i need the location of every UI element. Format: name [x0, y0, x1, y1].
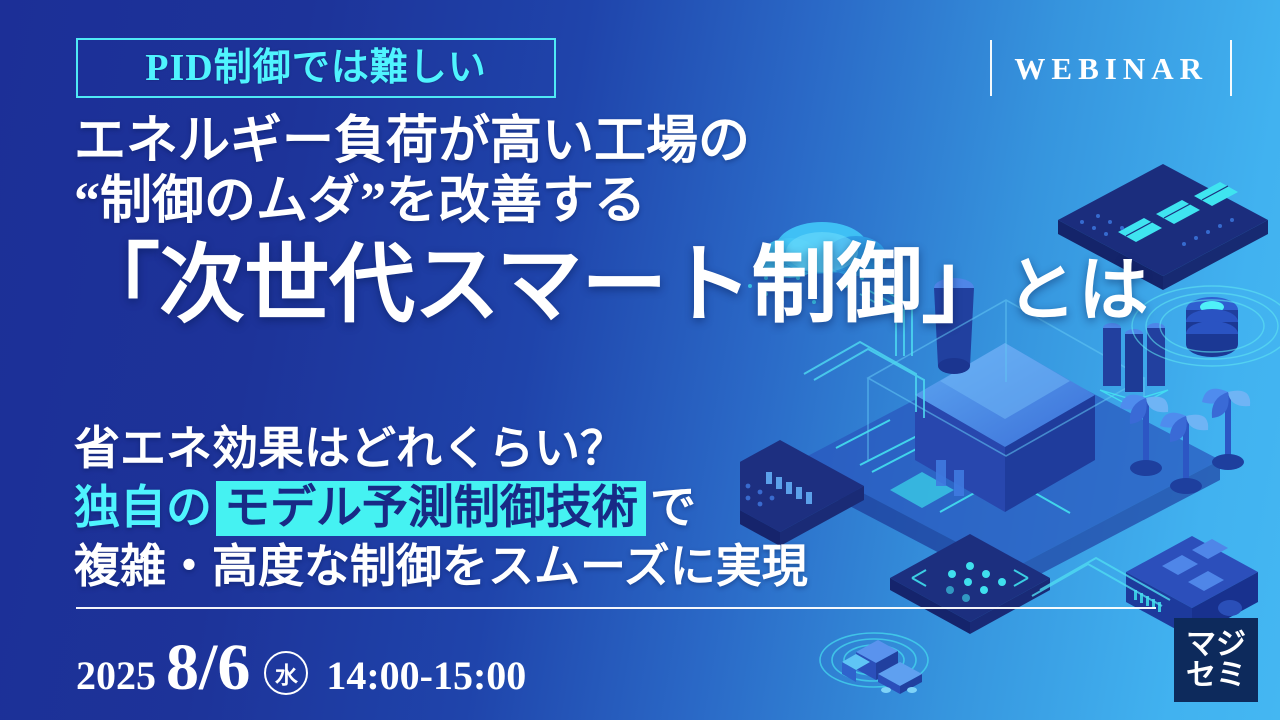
subcopy-suffix: で	[650, 482, 696, 533]
majisemi-logo[interactable]: マジ セミ	[1174, 618, 1258, 702]
schedule-time: 14:00-15:00	[326, 652, 526, 699]
webinar-rule-right	[1230, 40, 1232, 96]
schedule-weekday-badge: 水	[264, 651, 308, 695]
topic-badge: PID制御では難しい	[76, 38, 556, 98]
headline-main-text: 「次世代スマート制御」	[74, 237, 1006, 333]
logo-line-2: セミ	[1186, 660, 1246, 692]
subcopy-line-1: 省エネ効果はどれくらい？	[74, 420, 974, 479]
subcopy-prefix: 独自の	[74, 482, 212, 533]
schedule-day: 8/6	[166, 630, 250, 706]
webinar-label-text: WEBINAR	[1014, 53, 1208, 84]
subcopy-block: 省エネ効果はどれくらい？ 独自のモデル予測制御技術で 複雑・高度な制御をスムーズ…	[74, 420, 974, 597]
headline-line-1: エネルギー負荷が高い工場の	[74, 112, 1164, 172]
horizontal-divider	[76, 607, 1156, 609]
headline-line-2: “制御のムダ”を改善する	[74, 172, 1164, 232]
webinar-banner: PID制御では難しい WEBINAR エネルギー負荷が高い工場の “制御のムダ”…	[0, 0, 1280, 720]
headline-main: 「次世代スマート制御」とは	[74, 237, 1164, 333]
webinar-label: WEBINAR	[990, 40, 1232, 96]
logo-line-1: マジ	[1186, 629, 1246, 661]
subcopy-line-3: 複雑・高度な制御をスムーズに実現	[74, 538, 974, 597]
webinar-rule-left	[990, 40, 992, 96]
schedule-year: 2025	[76, 652, 156, 699]
headline-main-suffix: とは	[1006, 253, 1150, 330]
headline-block: エネルギー負荷が高い工場の “制御のムダ”を改善する 「次世代スマート制御」とは	[74, 112, 1164, 333]
isometric-smart-factory-illustration	[0, 0, 1280, 720]
topic-badge-label: PID制御では難しい	[145, 49, 486, 87]
subcopy-highlight: モデル予測制御技術	[216, 481, 646, 536]
subcopy-line-2: 独自のモデル予測制御技術で	[74, 479, 974, 538]
schedule-bar: 2025 8/6 水 14:00-15:00	[76, 630, 526, 706]
